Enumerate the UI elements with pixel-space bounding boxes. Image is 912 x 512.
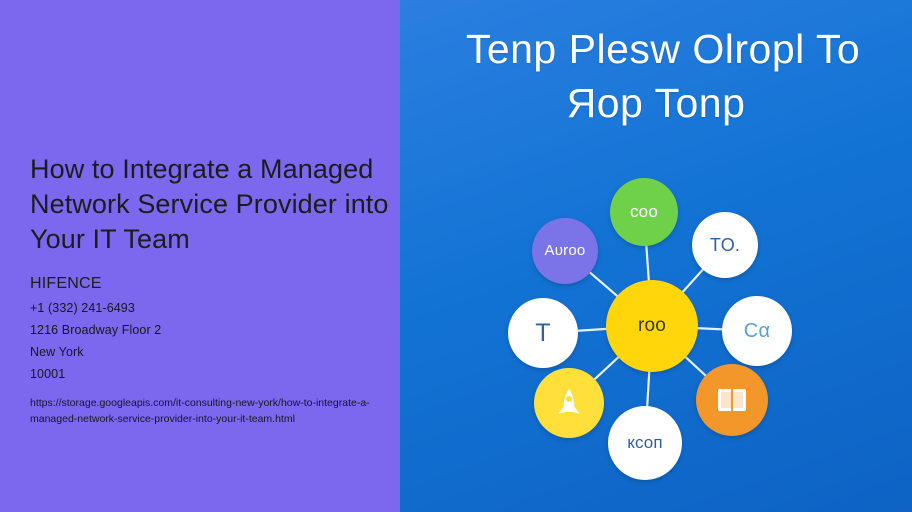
diagram-node-center-label: roo xyxy=(638,316,666,336)
diagram-node-center[interactable]: roo xyxy=(606,280,698,372)
brand-name: HIFENCE xyxy=(30,275,400,293)
graphic-title-line-2: Яop Tonp xyxy=(400,76,912,130)
letter-t-icon: T xyxy=(535,320,550,346)
diagram-node-right[interactable]: Cα xyxy=(722,296,792,366)
page-title: How to Integrate a Managed Network Servi… xyxy=(30,152,400,257)
diagram-node-bottom-label: ксoп xyxy=(627,434,663,452)
poster-page: How to Integrate a Managed Network Servi… xyxy=(0,0,912,512)
source-url[interactable]: https://storage.googleapis.com/it-consul… xyxy=(30,395,375,427)
diagram-node-top-right-label: TO. xyxy=(710,236,740,255)
address-line-1: 1216 Broadway Floor 2 xyxy=(30,323,400,337)
diagram-node-top-left[interactable]: Aυroo xyxy=(532,218,598,284)
left-content-block: How to Integrate a Managed Network Servi… xyxy=(30,152,400,427)
diagram-node-top-right[interactable]: TO. xyxy=(692,212,758,278)
right-graphic-panel: Tenp Plesw Olropl To Яop Tonp roo xyxy=(400,0,912,512)
diagram-node-bottom[interactable]: ксoп xyxy=(608,406,682,480)
diagram-node-left[interactable]: T xyxy=(508,298,578,368)
address-line-2: New York xyxy=(30,345,400,359)
graphic-title-line-1: Tenp Plesw Olropl To xyxy=(414,22,912,76)
postal-code: 10001 xyxy=(30,367,400,381)
letter-c-icon: Cα xyxy=(744,321,770,342)
hub-and-spoke-diagram: roo coo Aυroo TO. T Cα xyxy=(506,170,806,495)
diagram-node-bottom-left[interactable] xyxy=(534,368,604,438)
book-icon xyxy=(713,383,751,417)
diagram-node-bottom-right[interactable] xyxy=(696,364,768,436)
user-icon: Aυroo xyxy=(545,243,586,259)
cloud-icon: coo xyxy=(630,203,658,221)
left-info-panel: How to Integrate a Managed Network Servi… xyxy=(0,0,400,512)
diagram-node-top[interactable]: coo xyxy=(610,178,678,246)
graphic-title: Tenp Plesw Olropl To Яop Tonp xyxy=(400,22,912,130)
phone-number: +1 (332) 241-6493 xyxy=(30,301,400,315)
rocket-icon xyxy=(552,386,586,420)
